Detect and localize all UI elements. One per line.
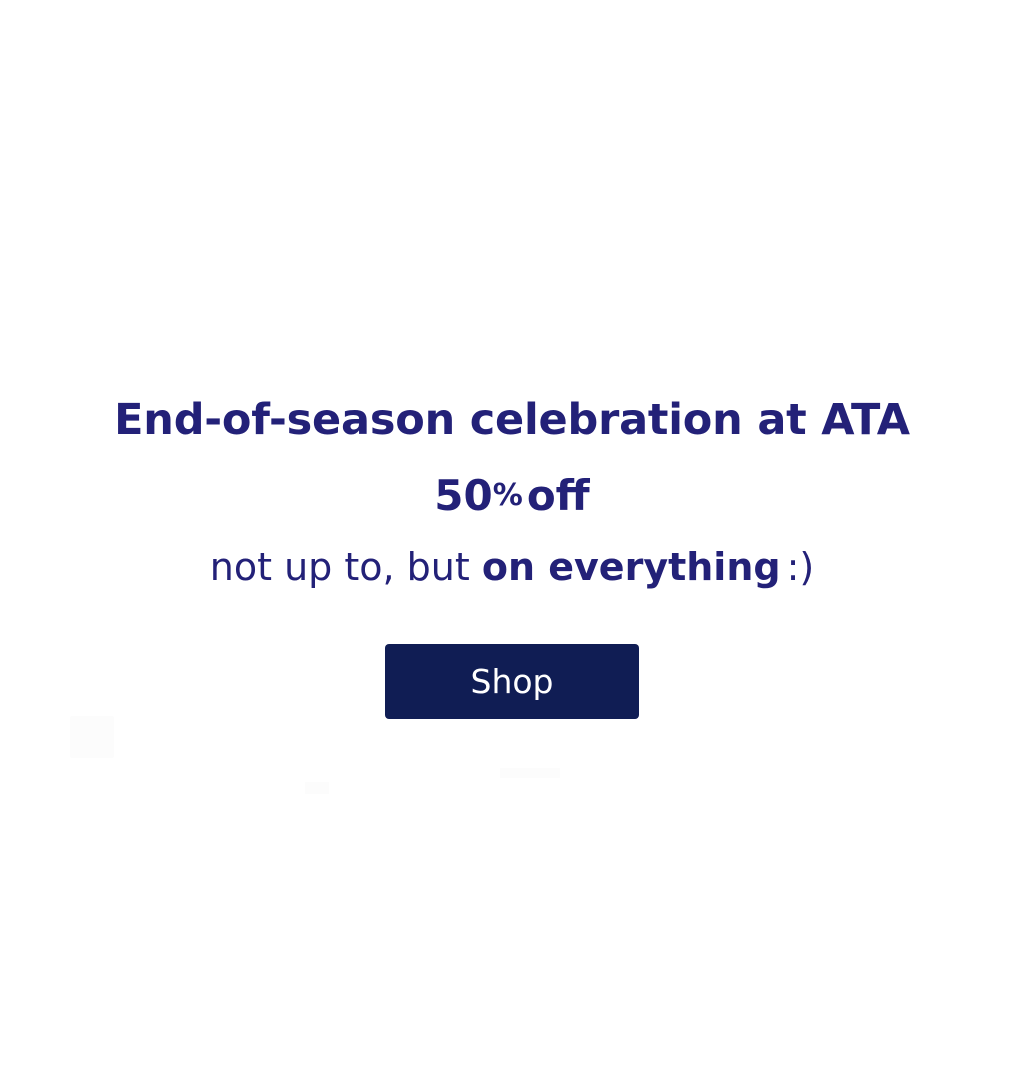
offer-amount: 50 <box>434 471 492 520</box>
smiley-icon: :) <box>787 545 815 589</box>
offer-word: off <box>527 471 590 520</box>
promo-content: End-of-season celebration at ATA 50%off … <box>0 398 1024 719</box>
shop-button[interactable]: Shop <box>385 644 639 719</box>
promo-headline: End-of-season celebration at ATA <box>0 398 1024 443</box>
detail-emphasis-text: on everything <box>482 545 781 589</box>
image-placeholder-artifact <box>70 716 114 758</box>
promo-detail-line: not up to, but on everything:) <box>0 548 1024 588</box>
promo-offer-line: 50%off <box>0 474 1024 518</box>
promo-banner: End-of-season celebration at ATA 50%off … <box>0 0 1024 1069</box>
detail-lead-text: not up to, but <box>210 545 470 589</box>
cta-container: Shop <box>0 644 1024 719</box>
render-artifact-a <box>305 782 329 794</box>
render-artifact-b <box>500 768 560 778</box>
offer-percent-symbol: % <box>493 478 523 513</box>
